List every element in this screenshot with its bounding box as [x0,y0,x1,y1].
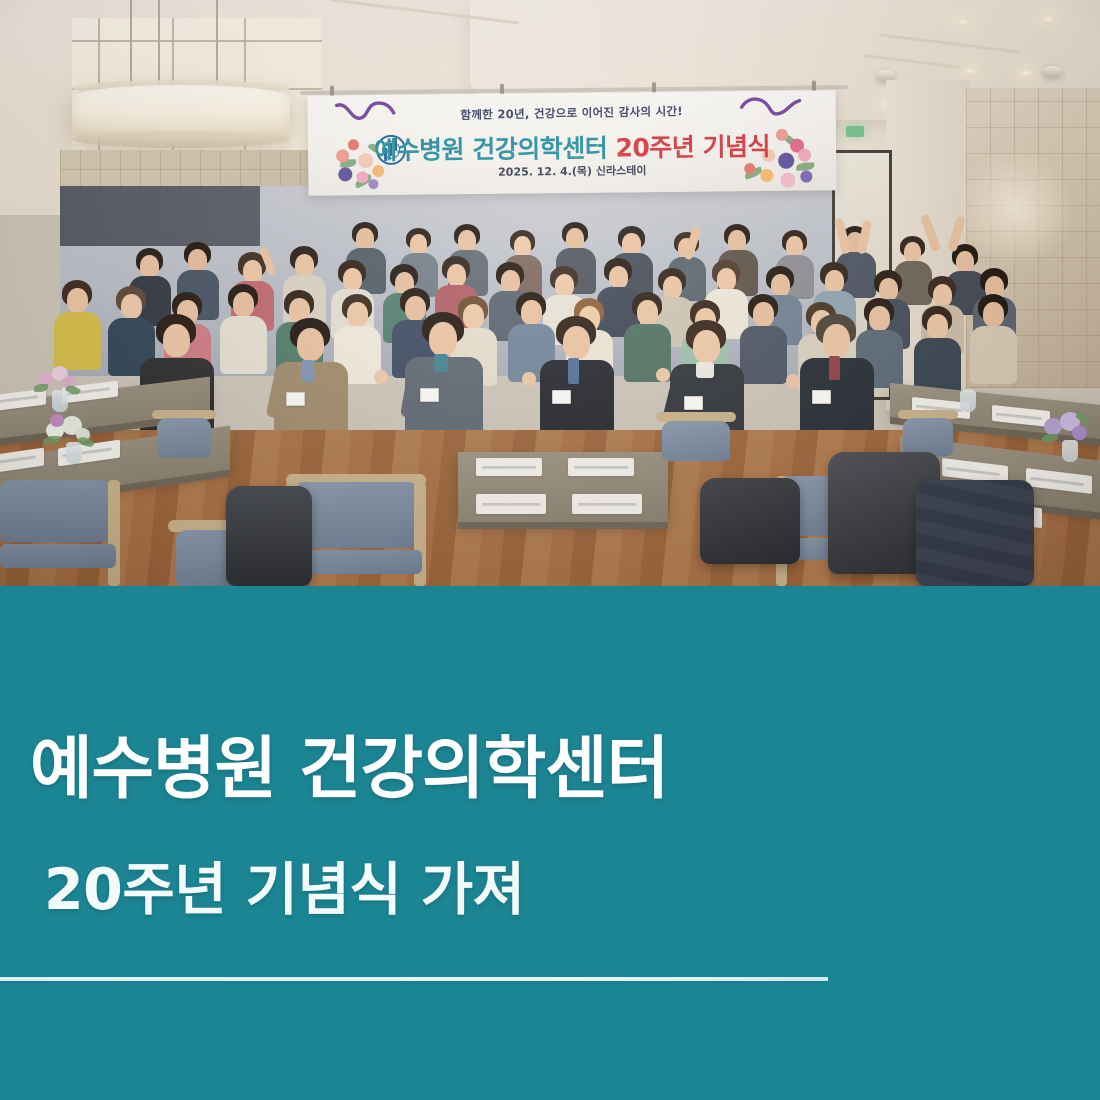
downlight [955,18,971,26]
finger-heart-hand [786,374,800,388]
scarf [434,354,448,372]
dining-chair [152,410,216,484]
name-tag [812,390,831,404]
flower-bouquet [1042,410,1090,450]
banner-title-part2: 20주년 기념식 [615,132,770,163]
event-photo: 함께한 20년, 건강으로 이어진 감사의 시간! 예수병원 건강의학센터 20… [0,0,1100,586]
finger-heart-hand [522,372,536,386]
draped-puffer-coat [916,480,1034,586]
name-tag [552,390,571,404]
event-banner: 함께한 20년, 건강으로 이어진 감사의 시간! 예수병원 건강의학센터 20… [307,90,836,196]
raised-arm [857,219,873,254]
draped-coat [700,478,800,564]
finger-heart-hand [374,370,388,384]
lamp-cord [216,0,218,90]
ceiling-speaker [1043,66,1062,77]
exit-sign [846,126,864,137]
flower-bouquet [44,414,92,454]
downlight [962,67,978,75]
caption-headline-line1: 예수병원 건강의학센터 [30,736,668,804]
downlight [1040,15,1056,23]
caption-divider [0,977,828,981]
draped-coat [226,486,312,586]
lamp-cord [130,0,132,88]
flower-vase [960,390,976,412]
dining-chair [656,412,736,476]
name-tag [286,392,305,406]
name-tag [684,396,703,410]
downlight [1018,69,1034,77]
flower-bouquet [34,366,82,406]
cutlery [482,503,540,505]
caption-panel [0,586,1100,1100]
pendant-lamp [72,85,290,143]
necktie [302,360,314,382]
name-tag [420,388,439,402]
banner-title-part1: 예수병원 건강의학센터 [374,134,616,166]
cutlery [574,466,628,468]
necktie [568,358,579,384]
caption-headline-line2: 20주년 기념식 가져 [44,862,525,919]
cutlery [482,466,536,468]
news-card: 함께한 20년, 건강으로 이어진 감사의 시간! 예수병원 건강의학센터 20… [0,0,1100,1100]
collar [696,362,714,378]
lamp-cord [158,0,160,86]
dining-chair [0,480,120,586]
glass-mullion [72,40,322,42]
cutlery [578,503,636,505]
finger-heart-hand [656,368,670,382]
necktie [829,356,840,380]
